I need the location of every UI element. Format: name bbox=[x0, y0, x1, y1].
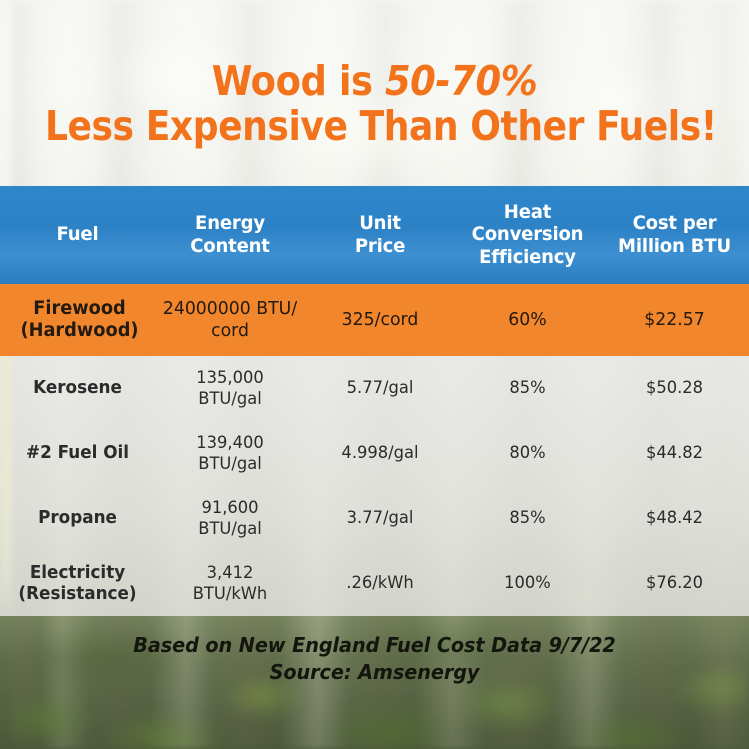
cell-fuel: Propane bbox=[0, 486, 155, 551]
cell-cost-per-million-btu: $22.57 bbox=[600, 284, 749, 356]
cell-cost-value: $50.28 bbox=[607, 378, 742, 398]
cell-energy-content: 139,400 BTU/gal bbox=[155, 421, 305, 486]
table-row: Kerosene 135,000 BTU/gal 5.77/gal 85% $5… bbox=[0, 356, 749, 421]
column-header-price-line2: Price bbox=[313, 235, 448, 257]
table-header: Fuel Energy Content Unit Price Heat Conv… bbox=[0, 186, 749, 284]
cell-energy-line1: 3,412 bbox=[162, 563, 298, 583]
cell-energy-content: 91,600 BTU/gal bbox=[155, 486, 305, 551]
cell-unit-price: 325/cord bbox=[305, 284, 455, 356]
cell-unit-price: 5.77/gal bbox=[305, 356, 455, 421]
footer-line-2: Source: Amsenergy bbox=[22, 659, 726, 686]
cell-energy-line1: 139,400 bbox=[162, 433, 298, 453]
column-header-eff-line2: Conversion bbox=[462, 223, 592, 245]
cell-fuel: Electricity (Resistance) bbox=[0, 551, 155, 616]
cell-cost-value: $22.57 bbox=[607, 309, 742, 331]
cell-efficiency: 80% bbox=[455, 421, 600, 486]
cell-fuel-line1: Firewood bbox=[11, 298, 148, 320]
column-header-price-line1: Unit bbox=[313, 212, 448, 234]
column-header-heat-conversion-efficiency: Heat Conversion Efficiency bbox=[455, 186, 600, 284]
cell-efficiency-value: 85% bbox=[462, 378, 594, 398]
title-line-1-text: Wood is bbox=[212, 57, 385, 105]
footer-line-1: Based on New England Fuel Cost Data 9/7/… bbox=[22, 632, 726, 659]
cell-efficiency: 100% bbox=[455, 551, 600, 616]
poster-title: Wood is 50-70% Less Expensive Than Other… bbox=[0, 60, 749, 149]
cell-energy-line2: BTU/kWh bbox=[162, 584, 298, 604]
cell-energy-content: 24000000 BTU/ cord bbox=[155, 284, 305, 356]
cell-energy-line2: BTU/gal bbox=[162, 389, 298, 409]
cell-unit-price: 3.77/gal bbox=[305, 486, 455, 551]
cell-unit-price-value: 325/cord bbox=[312, 309, 448, 331]
cell-unit-price: 4.998/gal bbox=[305, 421, 455, 486]
cell-fuel: Firewood (Hardwood) bbox=[0, 284, 155, 356]
fuel-comparison-table: Fuel Energy Content Unit Price Heat Conv… bbox=[0, 186, 749, 616]
cell-cost-per-million-btu: $50.28 bbox=[600, 356, 749, 421]
cell-efficiency: 85% bbox=[455, 356, 600, 421]
title-line-2: Less Expensive Than Other Fuels! bbox=[45, 105, 704, 148]
cell-cost-per-million-btu: $48.42 bbox=[600, 486, 749, 551]
column-header-eff-line1: Heat bbox=[462, 201, 592, 223]
table-row: #2 Fuel Oil 139,400 BTU/gal 4.998/gal 80… bbox=[0, 421, 749, 486]
cell-cost-per-million-btu: $44.82 bbox=[600, 421, 749, 486]
cell-unit-price-value: 5.77/gal bbox=[312, 378, 448, 398]
cell-cost-per-million-btu: $76.20 bbox=[600, 551, 749, 616]
table-row: Propane 91,600 BTU/gal 3.77/gal 85% $48.… bbox=[0, 486, 749, 551]
cell-fuel: #2 Fuel Oil bbox=[0, 421, 155, 486]
cell-cost-value: $44.82 bbox=[607, 443, 742, 463]
title-emphasis: 50-70% bbox=[385, 57, 537, 105]
cell-unit-price-value: 4.998/gal bbox=[312, 443, 448, 463]
cell-fuel-line1: Propane bbox=[7, 508, 148, 529]
cell-efficiency-value: 80% bbox=[462, 443, 594, 463]
title-line-1: Wood is 50-70% bbox=[37, 60, 711, 103]
poster-footer: Based on New England Fuel Cost Data 9/7/… bbox=[0, 632, 749, 686]
cell-fuel-line1: Electricity bbox=[7, 563, 148, 584]
cell-energy-content: 135,000 BTU/gal bbox=[155, 356, 305, 421]
cell-efficiency: 85% bbox=[455, 486, 600, 551]
cell-fuel-line2: (Hardwood) bbox=[11, 320, 148, 342]
cell-cost-value: $48.42 bbox=[607, 508, 742, 528]
cell-energy-line1: 91,600 bbox=[162, 498, 298, 518]
cell-fuel-line2: (Resistance) bbox=[7, 584, 148, 605]
column-header-eff-line3: Efficiency bbox=[462, 246, 592, 268]
cell-energy-content: 3,412 BTU/kWh bbox=[155, 551, 305, 616]
cell-energy-line1: 135,000 bbox=[162, 368, 298, 388]
column-header-cost-line2: Million BTU bbox=[608, 235, 742, 257]
column-header-unit-price: Unit Price bbox=[305, 186, 455, 284]
cell-unit-price: .26/kWh bbox=[305, 551, 455, 616]
cell-fuel-line1: #2 Fuel Oil bbox=[7, 443, 148, 464]
cell-efficiency-value: 100% bbox=[462, 573, 594, 593]
cell-energy-line1: 24000000 BTU/ bbox=[162, 298, 298, 320]
cell-energy-line2: BTU/gal bbox=[162, 454, 298, 474]
cell-efficiency-value: 85% bbox=[462, 508, 594, 528]
cell-unit-price-value: .26/kWh bbox=[312, 573, 448, 593]
column-header-cost-line1: Cost per bbox=[608, 212, 742, 234]
column-header-energy-line2: Content bbox=[163, 235, 298, 257]
table-body: Firewood (Hardwood) 24000000 BTU/ cord 3… bbox=[0, 284, 749, 616]
cell-efficiency-value: 60% bbox=[462, 309, 594, 331]
cell-fuel-line1: Kerosene bbox=[7, 378, 148, 399]
column-header-energy-content: Energy Content bbox=[155, 186, 305, 284]
table-row: Firewood (Hardwood) 24000000 BTU/ cord 3… bbox=[0, 284, 749, 356]
cell-efficiency: 60% bbox=[455, 284, 600, 356]
column-header-cost-per-million-btu: Cost per Million BTU bbox=[600, 186, 749, 284]
cell-unit-price-value: 3.77/gal bbox=[312, 508, 448, 528]
column-header-energy-line1: Energy bbox=[163, 212, 298, 234]
infographic-poster: Wood is 50-70% Less Expensive Than Other… bbox=[0, 0, 749, 749]
cell-energy-line2: cord bbox=[162, 320, 298, 342]
cell-cost-value: $76.20 bbox=[607, 573, 742, 593]
table-header-row: Fuel Energy Content Unit Price Heat Conv… bbox=[0, 186, 749, 284]
column-header-fuel-label: Fuel bbox=[8, 223, 148, 245]
fuel-comparison-table-wrapper: Fuel Energy Content Unit Price Heat Conv… bbox=[0, 186, 749, 616]
table-row: Electricity (Resistance) 3,412 BTU/kWh .… bbox=[0, 551, 749, 616]
cell-fuel: Kerosene bbox=[0, 356, 155, 421]
cell-energy-line2: BTU/gal bbox=[162, 519, 298, 539]
column-header-fuel: Fuel bbox=[0, 186, 155, 284]
